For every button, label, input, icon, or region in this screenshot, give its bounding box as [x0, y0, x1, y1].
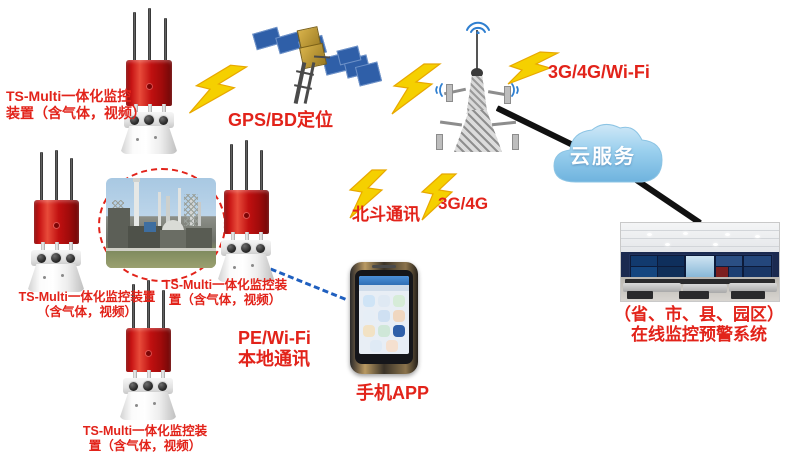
mobile-device[interactable]	[350, 262, 418, 374]
device-top-left	[112, 8, 196, 158]
ceiling	[621, 223, 779, 253]
device-mid-center-label: TS-Multi一体化监控装 置（含气体，视频）	[160, 278, 290, 309]
mobile-app-label: 手机APP	[356, 383, 429, 405]
cloud-service: 云服务	[548, 118, 668, 190]
app-icon[interactable]	[363, 325, 375, 337]
app-icon[interactable]	[370, 340, 382, 352]
device-mid-left-label: TS-Multi一体化监控装置 （含气体，视频）	[2, 290, 172, 321]
app-icon[interactable]	[363, 310, 375, 322]
app-icon[interactable]	[393, 295, 405, 307]
app-icon[interactable]	[386, 340, 398, 352]
link-gps-label: GPS/BD定位	[228, 110, 333, 132]
cloud-label: 云服务	[570, 140, 636, 169]
link-3g4g-wifi-label: 3G/4G/Wi-Fi	[548, 62, 650, 84]
app-icon[interactable]	[378, 295, 390, 307]
link-beidou-label: 北斗通讯	[352, 205, 420, 226]
device-top-left-label: TS-Multi一体化监控 装置（含气体，视频）	[6, 88, 156, 122]
diagram-canvas: 云服务	[0, 0, 797, 464]
device-bottom-label: TS-Multi一体化监控装 置（含气体，视频）	[70, 424, 220, 455]
link-3g4g-label: 3G/4G	[438, 194, 488, 215]
app-icon[interactable]	[378, 310, 390, 322]
industrial-plant-photo	[106, 178, 216, 268]
device-mid-left	[20, 150, 104, 298]
link-local-label: PE/Wi-Fi 本地通讯	[238, 328, 311, 369]
bolt-satellite-tower-icon	[386, 62, 446, 123]
app-icon[interactable]	[393, 325, 405, 337]
speaker-grille	[372, 265, 396, 268]
wifi-arcs-top-icon	[464, 18, 492, 34]
sub-bar	[359, 285, 409, 291]
control-center-photo	[620, 222, 780, 302]
satellite	[252, 12, 380, 110]
app-icon[interactable]	[363, 295, 375, 307]
control-center-label: （省、市、县、园区） 在线监控预警系统	[606, 305, 792, 346]
device-mid-center	[210, 140, 294, 288]
status-bar	[359, 276, 409, 285]
device-screen[interactable]	[359, 276, 409, 354]
app-icon[interactable]	[393, 310, 405, 322]
app-icon[interactable]	[378, 325, 390, 337]
